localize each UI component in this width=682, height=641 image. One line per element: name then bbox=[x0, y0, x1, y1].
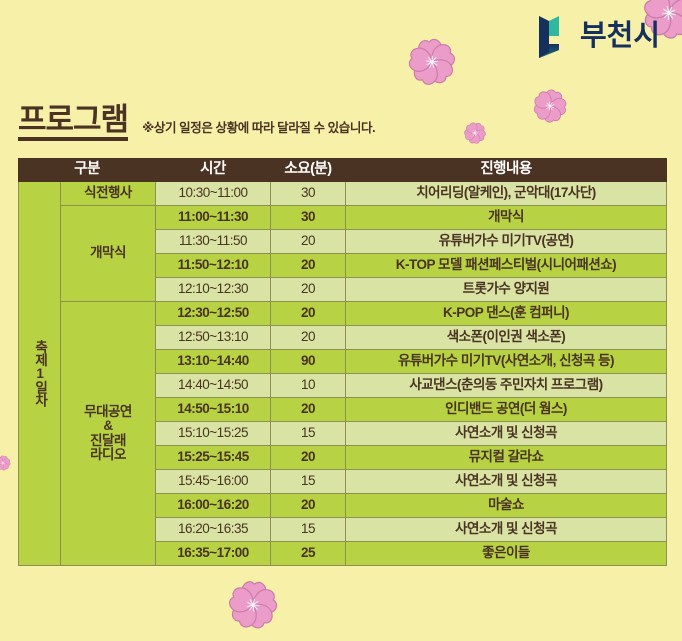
row-duration: 20 bbox=[271, 278, 346, 302]
section-label-cell: 개막식 bbox=[61, 206, 156, 302]
row-duration: 20 bbox=[271, 446, 346, 470]
row-content: 좋은이들 bbox=[346, 542, 667, 566]
row-content: 사연소개 및 신청곡 bbox=[346, 518, 667, 542]
row-duration: 25 bbox=[271, 542, 346, 566]
schedule-disclaimer-note: ※상기 일정은 상황에 따라 달라질 수 있습니다. bbox=[142, 117, 375, 141]
row-time: 15:45~16:00 bbox=[156, 470, 271, 494]
row-duration: 20 bbox=[271, 326, 346, 350]
row-content: 뮤지컬 갈라쇼 bbox=[346, 446, 667, 470]
table-row: 개막식11:00~11:3030개막식 bbox=[19, 206, 667, 230]
row-time: 10:30~11:00 bbox=[156, 182, 271, 206]
title-area: 프로그램 ※상기 일정은 상황에 따라 달라질 수 있습니다. bbox=[18, 104, 375, 141]
row-time: 11:50~12:10 bbox=[156, 254, 271, 278]
day-label-cell: 축제1일차 bbox=[19, 182, 61, 566]
row-duration: 30 bbox=[271, 206, 346, 230]
row-time: 13:10~14:40 bbox=[156, 350, 271, 374]
row-content: 마술쇼 bbox=[346, 494, 667, 518]
row-time: 11:00~11:30 bbox=[156, 206, 271, 230]
row-duration: 15 bbox=[271, 470, 346, 494]
blossom-small-left-icon bbox=[457, 115, 494, 152]
bucheon-b-mark-icon bbox=[535, 14, 571, 58]
schedule-body: 축제1일차식전행사10:30~11:0030치어리딩(알케인), 군악대(17사… bbox=[19, 182, 667, 566]
row-content: 트롯가수 양지원 bbox=[346, 278, 667, 302]
row-duration: 20 bbox=[271, 494, 346, 518]
column-header-time: 시간 bbox=[156, 159, 271, 182]
table-row: 무대공연&진달래라디오12:30~12:5020K-POP 댄스(훈 컴퍼니) bbox=[19, 302, 667, 326]
logo-label: 부천시 bbox=[580, 22, 660, 51]
blossom-upper-mid-icon bbox=[400, 30, 463, 93]
row-content: 개막식 bbox=[346, 206, 667, 230]
row-content: 사교댄스(춘의동 주민자치 프로그램) bbox=[346, 374, 667, 398]
section-label-cell: 식전행사 bbox=[61, 182, 156, 206]
row-content: K-TOP 모델 패션페스티벌(시니어패션쇼) bbox=[346, 254, 667, 278]
row-time: 14:40~14:50 bbox=[156, 374, 271, 398]
row-content: 치어리딩(알케인), 군악대(17사단) bbox=[346, 182, 667, 206]
row-duration: 10 bbox=[271, 374, 346, 398]
row-time: 12:50~13:10 bbox=[156, 326, 271, 350]
row-time: 14:50~15:10 bbox=[156, 398, 271, 422]
blossom-bottom-center-icon bbox=[222, 574, 284, 636]
row-duration: 15 bbox=[271, 422, 346, 446]
row-duration: 20 bbox=[271, 398, 346, 422]
row-time: 11:30~11:50 bbox=[156, 230, 271, 254]
row-duration: 90 bbox=[271, 350, 346, 374]
row-time: 12:30~12:50 bbox=[156, 302, 271, 326]
row-content: 유튜버가수 미기TV(사연소개, 신청곡 등) bbox=[346, 350, 667, 374]
row-content: 인디밴드 공연(더 웜스) bbox=[346, 398, 667, 422]
row-duration: 20 bbox=[271, 254, 346, 278]
section-label-cell: 무대공연&진달래라디오 bbox=[61, 302, 156, 566]
blossom-mid-right-icon bbox=[524, 80, 576, 132]
row-content: 유튜버가수 미기TV(공연) bbox=[346, 230, 667, 254]
table-row: 축제1일차식전행사10:30~11:0030치어리딩(알케인), 군악대(17사… bbox=[19, 182, 667, 206]
schedule-table: 구분 시간 소요(분) 진행내용 축제1일차식전행사10:30~11:0030치… bbox=[18, 158, 667, 566]
row-time: 16:00~16:20 bbox=[156, 494, 271, 518]
row-time: 12:10~12:30 bbox=[156, 278, 271, 302]
row-time: 16:20~16:35 bbox=[156, 518, 271, 542]
column-header-content: 진행내용 bbox=[346, 159, 667, 182]
column-header-category: 구분 bbox=[19, 159, 156, 182]
row-content: 사연소개 및 신청곡 bbox=[346, 470, 667, 494]
row-content: 사연소개 및 신청곡 bbox=[346, 422, 667, 446]
column-header-duration: 소요(분) bbox=[271, 159, 346, 182]
row-duration: 20 bbox=[271, 230, 346, 254]
row-duration: 15 bbox=[271, 518, 346, 542]
bucheon-city-logo: 부천시 bbox=[535, 14, 660, 58]
program-schedule: 구분 시간 소요(분) 진행내용 축제1일차식전행사10:30~11:0030치… bbox=[18, 158, 666, 566]
row-content: K-POP 댄스(훈 컴퍼니) bbox=[346, 302, 667, 326]
row-time: 15:10~15:25 bbox=[156, 422, 271, 446]
page-title: 프로그램 bbox=[18, 104, 128, 141]
row-time: 15:25~15:45 bbox=[156, 446, 271, 470]
blossom-tiny-left-edge-icon bbox=[0, 453, 13, 474]
table-header-row: 구분 시간 소요(분) 진행내용 bbox=[19, 159, 667, 182]
row-duration: 20 bbox=[271, 302, 346, 326]
row-content: 색소폰(이인권 색소폰) bbox=[346, 326, 667, 350]
row-duration: 30 bbox=[271, 182, 346, 206]
row-time: 16:35~17:00 bbox=[156, 542, 271, 566]
